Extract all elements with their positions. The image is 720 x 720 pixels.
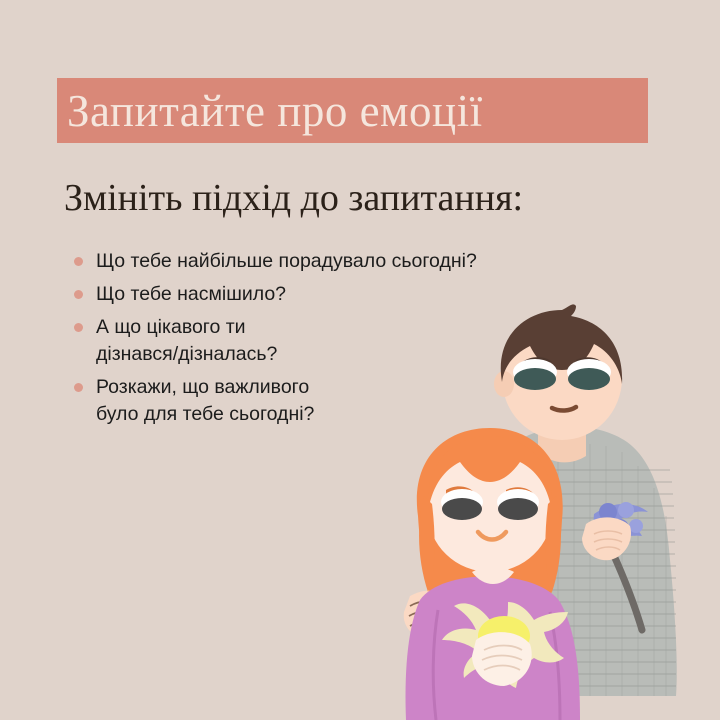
bullet-dot-icon [74, 290, 83, 299]
poster-title: Запитайте про емоції [67, 88, 483, 134]
parent-and-child-illustration [380, 300, 720, 720]
list-item: Що тебе найбільше порадувало сьогодні? [68, 248, 488, 275]
adult-head [494, 304, 622, 440]
bullet-dot-icon [74, 257, 83, 266]
poster-canvas: Запитайте про емоції Змініть підхід до з… [0, 0, 720, 720]
bullet-dot-icon [74, 383, 83, 392]
bullet-dot-icon [74, 323, 83, 332]
question-line: Що тебе найбільше порадувало сьогодні? [96, 248, 488, 275]
title-banner: Запитайте про емоції [57, 78, 648, 143]
poster-subtitle: Змініть підхід до запитання: [64, 176, 523, 220]
